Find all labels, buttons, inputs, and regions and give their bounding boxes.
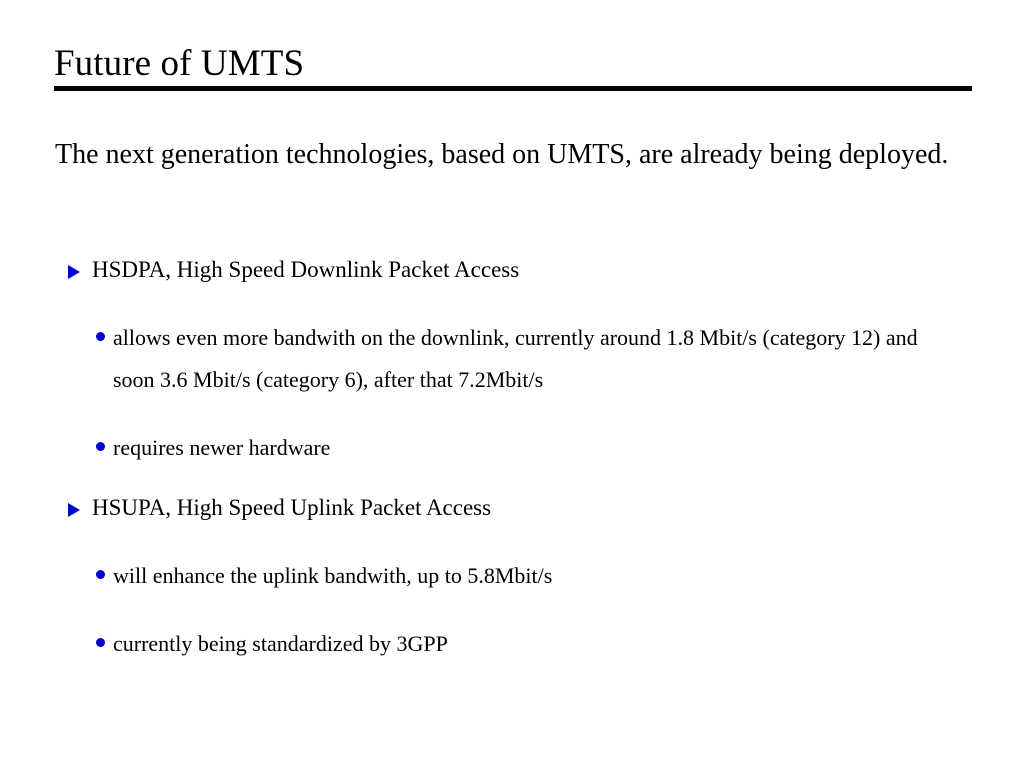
list-item: HSDPA, High Speed Downlink Packet Access bbox=[0, 255, 1024, 285]
list-item: allows even more bandwith on the downlin… bbox=[0, 317, 1024, 401]
list-item: currently being standardized by 3GPP bbox=[0, 623, 1024, 665]
intro-paragraph: The next generation technologies, based … bbox=[55, 130, 960, 179]
dot-bullet-icon bbox=[96, 638, 105, 647]
bullet-list: HSDPA, High Speed Downlink Packet Access… bbox=[0, 255, 1024, 691]
list-item-label: HSDPA, High Speed Downlink Packet Access bbox=[92, 257, 519, 282]
page-title: Future of UMTS bbox=[54, 42, 974, 86]
list-item-label: requires newer hardware bbox=[113, 435, 330, 460]
dot-bullet-icon bbox=[96, 570, 105, 579]
list-item-label: HSUPA, High Speed Uplink Packet Access bbox=[92, 495, 491, 520]
list-item: HSUPA, High Speed Uplink Packet Access bbox=[0, 493, 1024, 523]
title-underline-rule bbox=[54, 86, 972, 91]
list-item-label: allows even more bandwith on the downlin… bbox=[113, 325, 918, 392]
list-item: will enhance the uplink bandwith, up to … bbox=[0, 555, 1024, 597]
list-item-label: will enhance the uplink bandwith, up to … bbox=[113, 563, 552, 588]
triangle-bullet-icon bbox=[68, 503, 80, 517]
dot-bullet-icon bbox=[96, 332, 105, 341]
list-item: requires newer hardware bbox=[0, 427, 1024, 469]
triangle-bullet-icon bbox=[68, 265, 80, 279]
slide-canvas: Future of UMTS The next generation techn… bbox=[0, 0, 1024, 768]
list-item-label: currently being standardized by 3GPP bbox=[113, 631, 448, 656]
dot-bullet-icon bbox=[96, 442, 105, 451]
slide-title-block: Future of UMTS bbox=[54, 42, 974, 86]
